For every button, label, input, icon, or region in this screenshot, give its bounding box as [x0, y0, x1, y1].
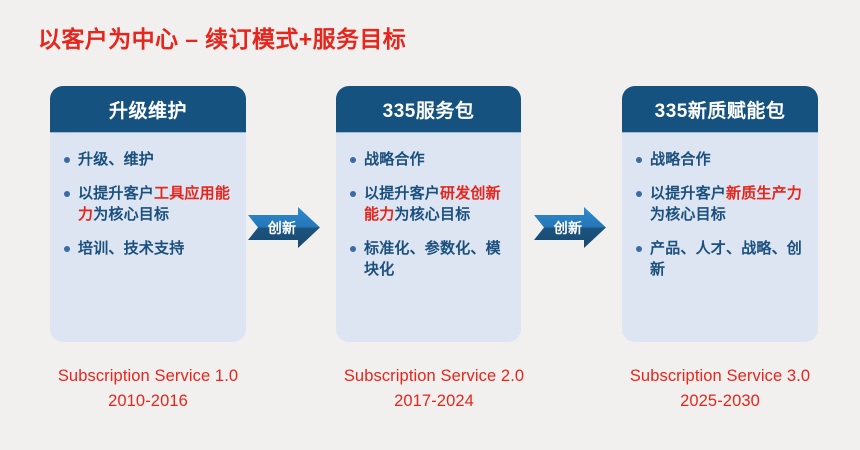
list-item-label: 培训、技术支持 [78, 238, 184, 259]
list-item-label: 以提升客户工具应用能力为核心目标 [78, 183, 236, 225]
caption-title-1: Subscription Service 1.0 [20, 364, 276, 389]
plain-text: 产品、人才、战略、创新 [650, 240, 802, 278]
right-arrow-icon [248, 207, 320, 248]
caption-title-2: Subscription Service 2.0 [306, 364, 562, 389]
plain-text: 为核心目标 [650, 206, 726, 223]
card-body-3: 战略合作以提升客户新质生产力为核心目标产品、人才、战略、创新 [622, 133, 818, 290]
list-item: 以提升客户新质生产力为核心目标 [634, 183, 808, 225]
list-item-label: 产品、人才、战略、创新 [650, 238, 808, 280]
caption-3: Subscription Service 3.0 2025-2030 [592, 364, 848, 414]
list-item-label: 战略合作 [364, 149, 425, 170]
caption-years-1: 2010-2016 [20, 389, 276, 414]
caption-years-2: 2017-2024 [306, 389, 562, 414]
card-body-2: 战略合作以提升客户研发创新能力为核心目标标准化、参数化、模块化 [336, 133, 521, 290]
card-header-2: 335服务包 [336, 86, 521, 133]
right-arrow-icon [534, 207, 606, 248]
card-subscription-service-3: 335新质赋能包 战略合作以提升客户新质生产力为核心目标产品、人才、战略、创新 [622, 86, 818, 342]
bullet-dot-icon [64, 191, 70, 197]
list-item: 升级、维护 [62, 149, 236, 170]
bullet-dot-icon [636, 246, 642, 252]
caption-years-3: 2025-2030 [592, 389, 848, 414]
plain-text: 以提升客户 [78, 185, 154, 202]
arrow-innovation-1: 创新 [248, 207, 320, 248]
card-body-1: 升级、维护以提升客户工具应用能力为核心目标培训、技术支持 [50, 133, 246, 269]
bullet-dot-icon [350, 246, 356, 252]
page-title: 以客户为中心 – 续订模式+服务目标 [38, 20, 406, 54]
plain-text: 为核心目标 [394, 206, 470, 223]
list-item-label: 标准化、参数化、模块化 [364, 238, 511, 280]
list-item: 以提升客户研发创新能力为核心目标 [348, 183, 511, 225]
card-subscription-service-1: 升级维护 升级、维护以提升客户工具应用能力为核心目标培训、技术支持 [50, 86, 246, 342]
bullet-dot-icon [350, 157, 356, 163]
plain-text: 战略合作 [650, 151, 711, 168]
list-item: 战略合作 [634, 149, 808, 170]
plain-text: 升级、维护 [78, 151, 154, 168]
caption-title-3: Subscription Service 3.0 [592, 364, 848, 389]
bullet-dot-icon [350, 191, 356, 197]
bullet-dot-icon [64, 157, 70, 163]
plain-text: 战略合作 [364, 151, 425, 168]
list-item: 产品、人才、战略、创新 [634, 238, 808, 280]
highlighted-text: 新质生产力 [726, 185, 802, 202]
bullet-dot-icon [64, 246, 70, 252]
list-item: 培训、技术支持 [62, 238, 236, 259]
plain-text: 培训、技术支持 [78, 240, 184, 257]
list-item-label: 以提升客户新质生产力为核心目标 [650, 183, 808, 225]
slide-canvas: 以客户为中心 – 续订模式+服务目标 升级维护 升级、维护以提升客户工具应用能力… [0, 0, 860, 450]
plain-text: 标准化、参数化、模块化 [364, 240, 501, 278]
card-header-1: 升级维护 [50, 86, 246, 133]
plain-text: 以提升客户 [650, 185, 726, 202]
card-header-3: 335新质赋能包 [622, 86, 818, 133]
list-item: 战略合作 [348, 149, 511, 170]
list-item-label: 以提升客户研发创新能力为核心目标 [364, 183, 511, 225]
bullet-dot-icon [636, 157, 642, 163]
list-item-label: 升级、维护 [78, 149, 154, 170]
caption-2: Subscription Service 2.0 2017-2024 [306, 364, 562, 414]
plain-text: 为核心目标 [93, 206, 169, 223]
plain-text: 以提升客户 [364, 185, 440, 202]
list-item-label: 战略合作 [650, 149, 711, 170]
card-subscription-service-2: 335服务包 战略合作以提升客户研发创新能力为核心目标标准化、参数化、模块化 [336, 86, 521, 342]
list-item: 标准化、参数化、模块化 [348, 238, 511, 280]
list-item: 以提升客户工具应用能力为核心目标 [62, 183, 236, 225]
arrow-innovation-2: 创新 [534, 207, 606, 248]
bullet-dot-icon [636, 191, 642, 197]
caption-1: Subscription Service 1.0 2010-2016 [20, 364, 276, 414]
